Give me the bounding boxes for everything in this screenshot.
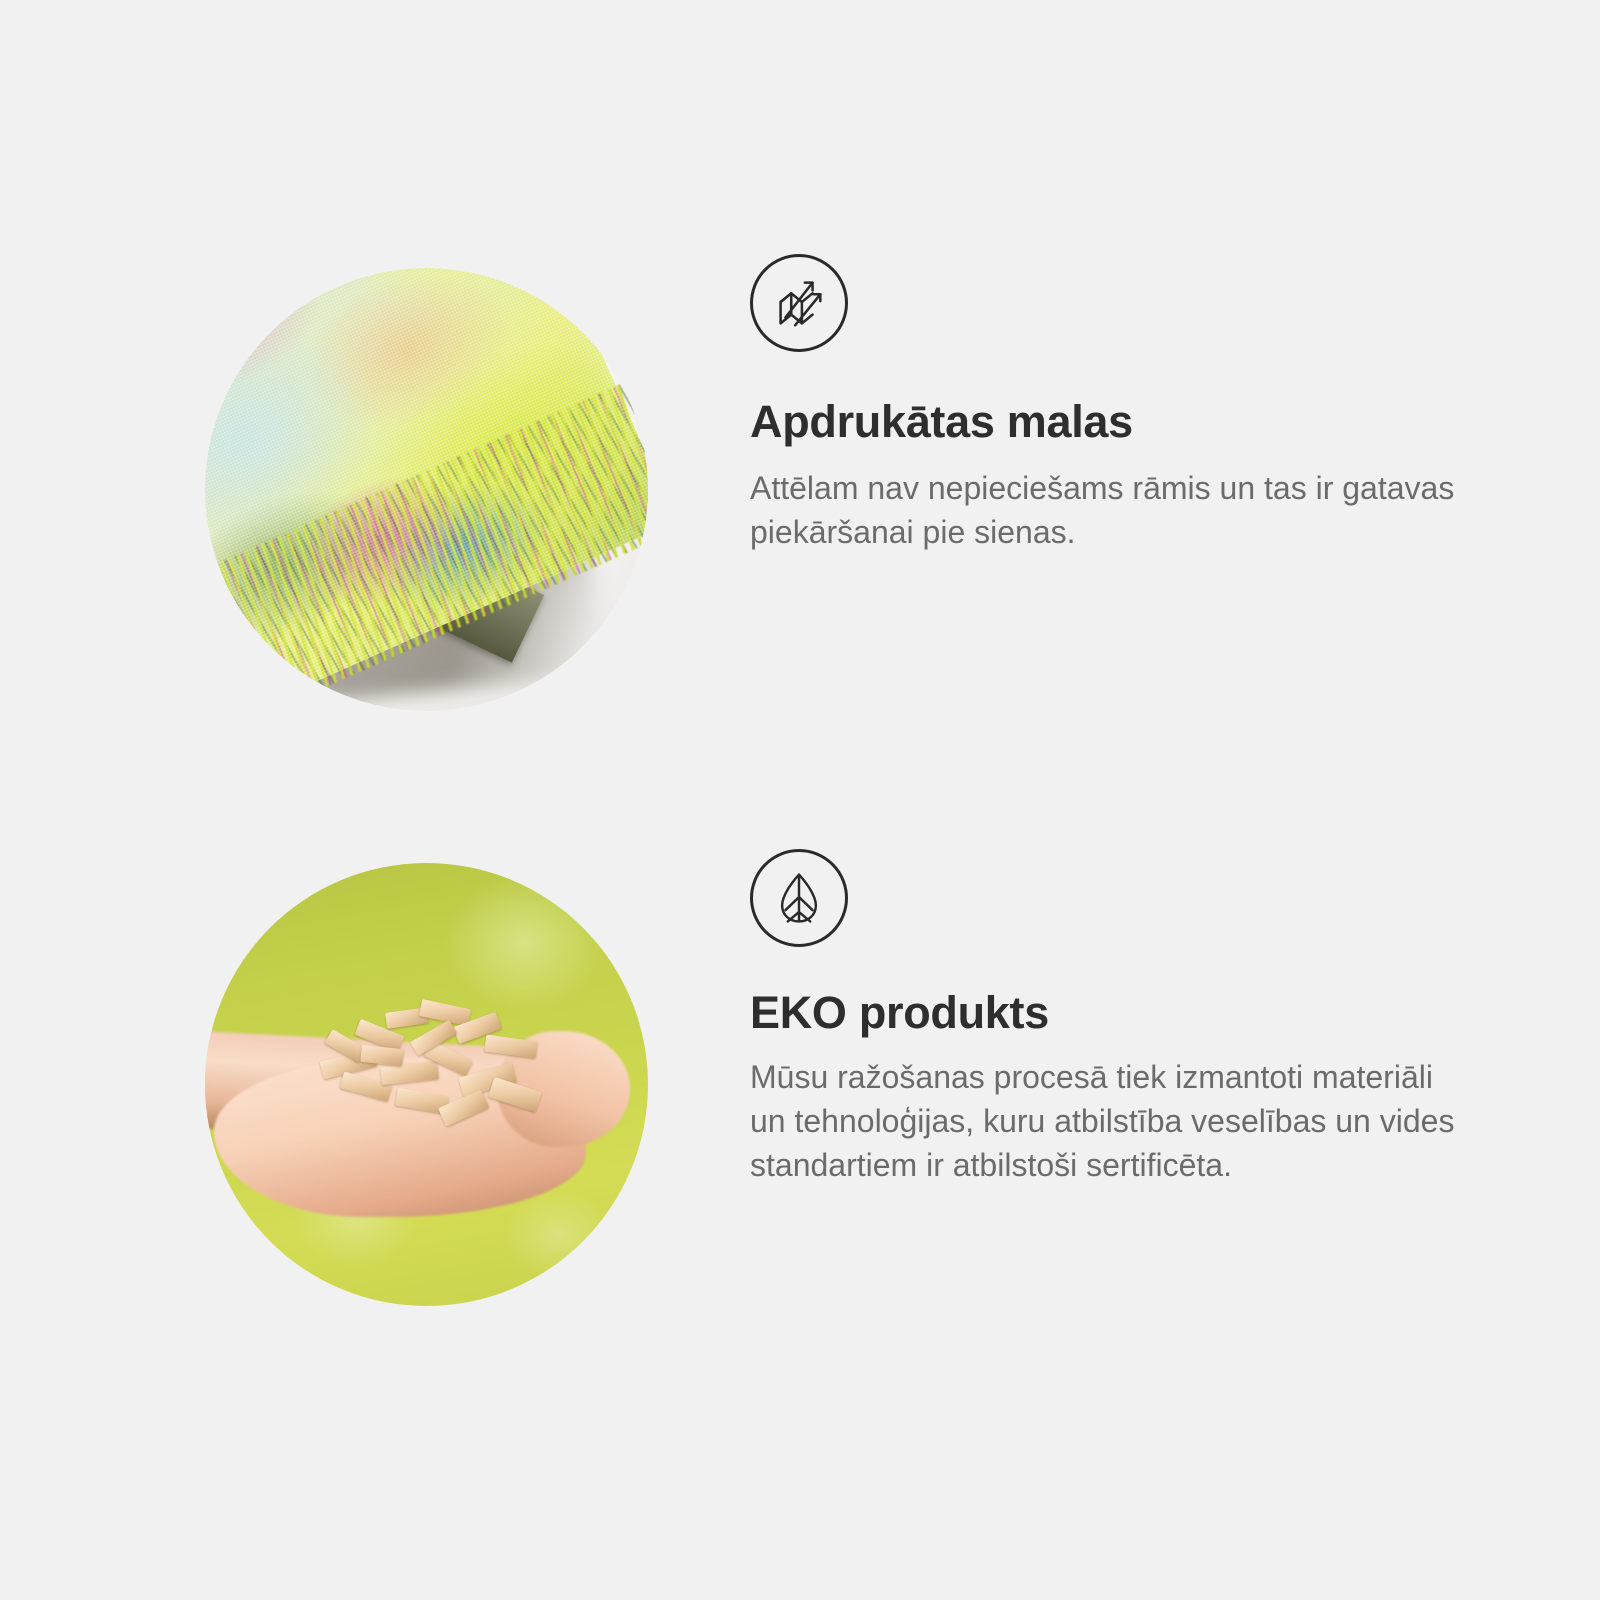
leaf-icon bbox=[750, 849, 848, 947]
feature-description: Mūsu ražošanas procesā tiek izmantoti ma… bbox=[750, 1055, 1470, 1187]
feature-media-printed-edges bbox=[195, 250, 655, 710]
feature-highlights-page: Apdrukātas malas Attēlam nav nepieciešam… bbox=[0, 0, 1600, 1600]
wood-chips-pile bbox=[311, 996, 559, 1138]
feature-title: EKO produkts bbox=[750, 987, 1510, 1039]
leaf-glyph bbox=[769, 868, 829, 928]
circular-photo-canvas-edge bbox=[205, 268, 648, 711]
printed-edges-icon bbox=[750, 254, 848, 352]
feature-text-eco-product: EKO produkts Mūsu ražošanas procesā tiek… bbox=[750, 845, 1510, 1187]
printed-edges-glyph bbox=[768, 272, 830, 334]
wood-chip bbox=[484, 1035, 538, 1059]
circular-photo-wood-chips bbox=[205, 863, 648, 1306]
feature-title: Apdrukātas malas bbox=[750, 396, 1510, 448]
feature-text-printed-edges: Apdrukātas malas Attēlam nav nepieciešam… bbox=[750, 250, 1510, 554]
feature-media-eco-product bbox=[195, 845, 655, 1305]
feature-block-printed-edges: Apdrukātas malas Attēlam nav nepieciešam… bbox=[0, 250, 1600, 710]
feature-block-eco-product: EKO produkts Mūsu ražošanas procesā tiek… bbox=[0, 845, 1600, 1305]
feature-description: Attēlam nav nepieciešams rāmis un tas ir… bbox=[750, 466, 1470, 554]
